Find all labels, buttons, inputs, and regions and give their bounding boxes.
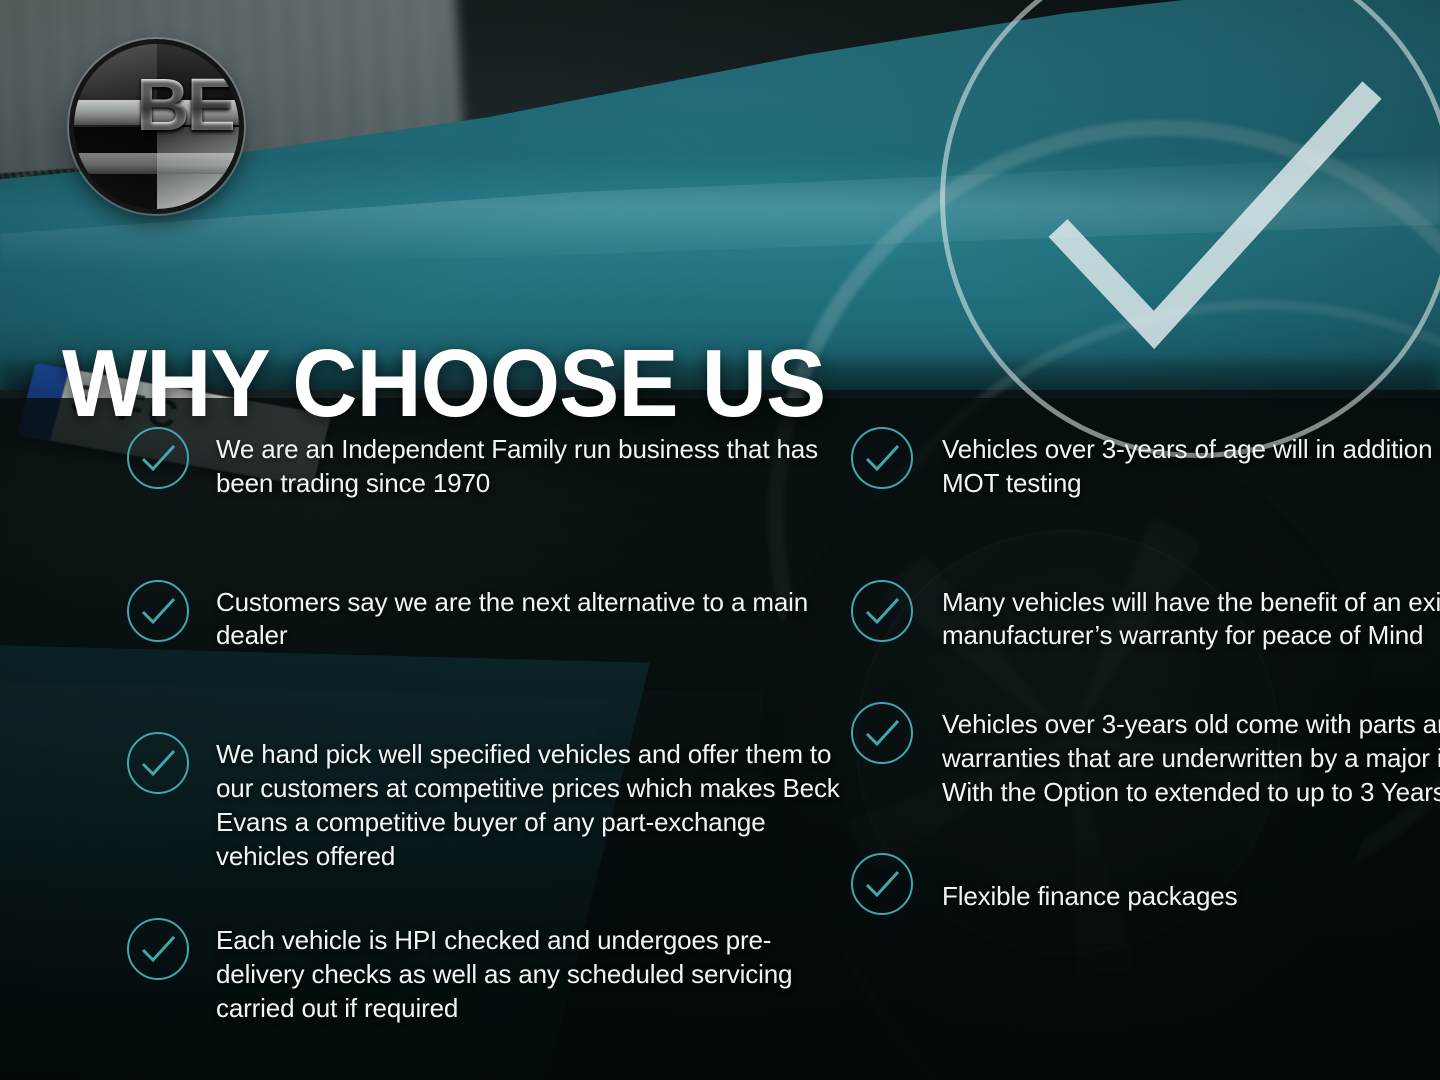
list-item-text: Vehicles over 3-years old come with part… — [942, 701, 1440, 809]
list-item-text: Each vehicle is HPI checked and undergoe… — [216, 917, 842, 1025]
check-circle-icon — [126, 579, 190, 643]
list-item-text: Many vehicles will have the benefit of a… — [942, 579, 1440, 654]
list-item-text: We are an Independent Family run busines… — [216, 426, 842, 501]
list-item: We are an Independent Family run busines… — [126, 426, 842, 501]
list-item: Flexible finance packages — [850, 852, 1440, 916]
list-item: We hand pick well specified vehicles and… — [126, 731, 842, 873]
list-item: Vehicles over 3-years old come with part… — [850, 701, 1440, 809]
list-item: Customers say we are the next alternativ… — [126, 579, 842, 654]
logo-text: BE — [136, 68, 233, 142]
check-circle-icon — [850, 852, 914, 916]
list-item-text: We hand pick well specified vehicles and… — [216, 731, 842, 873]
page-title: WHY CHOOSE US — [62, 336, 825, 432]
check-circle-icon — [126, 426, 190, 490]
list-item-text: Vehicles over 3-years of age will in add… — [942, 426, 1440, 501]
feature-columns: We are an Independent Family run busines… — [0, 426, 1440, 1048]
check-circle-icon — [126, 731, 190, 795]
logo-band-lower — [74, 153, 239, 174]
list-item-text: Customers say we are the next alternativ… — [216, 579, 842, 654]
check-circle-icon — [850, 579, 914, 643]
why-choose-us-slide: S FC BE WHY CHOOSE US — [0, 0, 1440, 1080]
feature-column-left: We are an Independent Family run busines… — [0, 426, 842, 1048]
check-circle-icon — [850, 426, 914, 490]
list-item: Many vehicles will have the benefit of a… — [850, 579, 1440, 654]
check-circle-icon — [126, 917, 190, 981]
list-item-text: Flexible finance packages — [942, 852, 1440, 914]
feature-column-right: Vehicles over 3-years of age will in add… — [842, 426, 1440, 1048]
beck-evans-logo[interactable]: BE — [74, 44, 239, 209]
list-item: Vehicles over 3-years of age will in add… — [850, 426, 1440, 501]
list-item: Each vehicle is HPI checked and undergoe… — [126, 917, 842, 1025]
check-circle-icon — [850, 701, 914, 765]
